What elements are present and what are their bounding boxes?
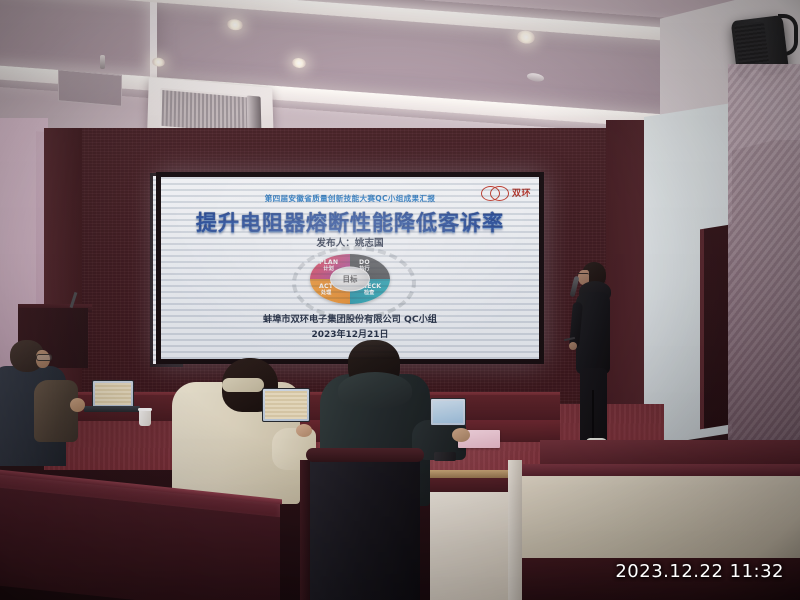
laptop-screen	[92, 380, 134, 408]
laptop-screen-content	[95, 383, 131, 405]
smartphone[interactable]	[434, 452, 456, 461]
audience-right-hand	[452, 428, 470, 442]
microphone-icon	[570, 276, 580, 298]
ac-sensor	[100, 55, 105, 69]
audience-center-hand	[296, 424, 312, 437]
pdca-act-cn: 处理	[319, 291, 333, 296]
pdca-center-label: 目标	[330, 267, 370, 292]
laptop-screen-content	[433, 401, 463, 423]
foreground-chair-frame	[306, 448, 424, 462]
ac-vane	[247, 95, 262, 132]
pdca-check-cn: 检查	[357, 291, 381, 296]
double-ring-logo-icon	[481, 186, 509, 199]
paper-cup[interactable]	[139, 409, 151, 426]
laptop-screen	[430, 398, 466, 426]
laptop-keyboard[interactable]	[84, 406, 140, 412]
foreground-chair-arm	[300, 460, 310, 600]
glasses-icon	[36, 354, 52, 361]
ceiling-downlight	[517, 30, 535, 44]
laptop-screen-content	[265, 391, 307, 419]
logo-text: 双环	[512, 186, 531, 199]
ceiling-smoke-detector	[527, 72, 544, 82]
audience-left-sleeve	[34, 380, 78, 442]
ceiling-downlight	[152, 57, 165, 67]
paper-cup-rim	[138, 408, 152, 411]
audience-left-hand	[70, 398, 85, 412]
presentation-slide: 双环 第四届安徽省质量创新技能大赛QC小组成果汇报 提升电阻器熔断性能降低客诉率…	[161, 177, 539, 359]
photo-scene: 双环 第四届安徽省质量创新技能大赛QC小组成果汇报 提升电阻器熔断性能降低客诉率…	[0, 0, 800, 600]
ceiling-downlight	[227, 19, 243, 31]
audience-right-hood	[338, 372, 412, 408]
foreground-desk-right-top	[516, 464, 800, 476]
pdca-label-act: ACT 处理	[319, 284, 333, 296]
slide-banner: 第四届安徽省质量创新技能大赛QC小组成果汇报	[265, 193, 436, 204]
slide-title: 提升电阻器熔断性能降低客诉率	[196, 207, 504, 237]
slide-date-line: 2023年12月21日	[311, 327, 388, 340]
foreground-chair[interactable]	[310, 452, 420, 600]
ceiling-vent	[58, 69, 122, 107]
led-display[interactable]: 双环 第四届安徽省质量创新技能大赛QC小组成果汇报 提升电阻器熔断性能降低客诉率…	[156, 172, 544, 364]
wall-far-right-shading	[728, 64, 800, 484]
ceiling-downlight	[292, 57, 306, 68]
presenter-hand	[569, 342, 577, 350]
slide-company-line: 蚌埠市双环电子集团股份有限公司 QC小组	[263, 311, 437, 325]
company-logo: 双环	[481, 186, 531, 199]
laptop-screen	[262, 388, 310, 422]
pdca-cycle-diagram: PLAN 计划 DO 执行 CHECK 检查 ACT 处理 目标	[301, 251, 399, 307]
camera-timestamp: 2023.12.22 11:32	[615, 561, 784, 582]
presenter-person	[566, 262, 616, 462]
audience-center-collar	[222, 378, 264, 392]
desk-divider-panel	[508, 460, 522, 600]
